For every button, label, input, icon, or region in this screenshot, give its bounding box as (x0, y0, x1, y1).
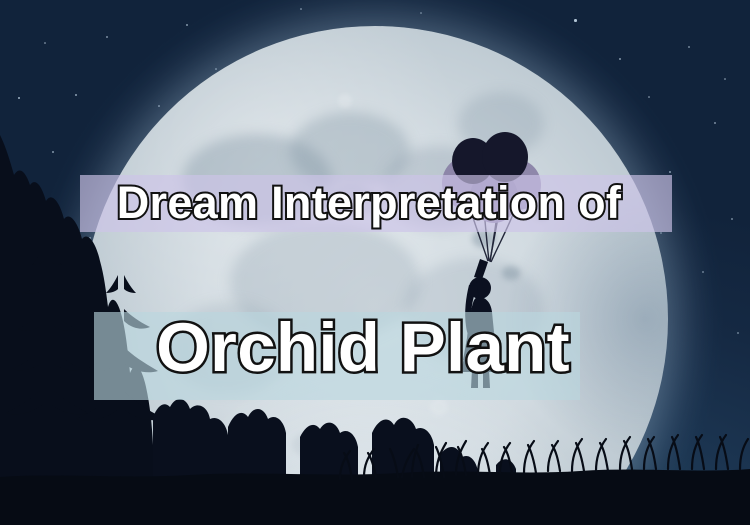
headline-line-2: Orchid Plant (0, 306, 738, 390)
dream-interpretation-banner: Dream Interpretation of Orchid Plant (0, 0, 750, 525)
headline-line-1: Dream Interpretation of (0, 176, 744, 230)
